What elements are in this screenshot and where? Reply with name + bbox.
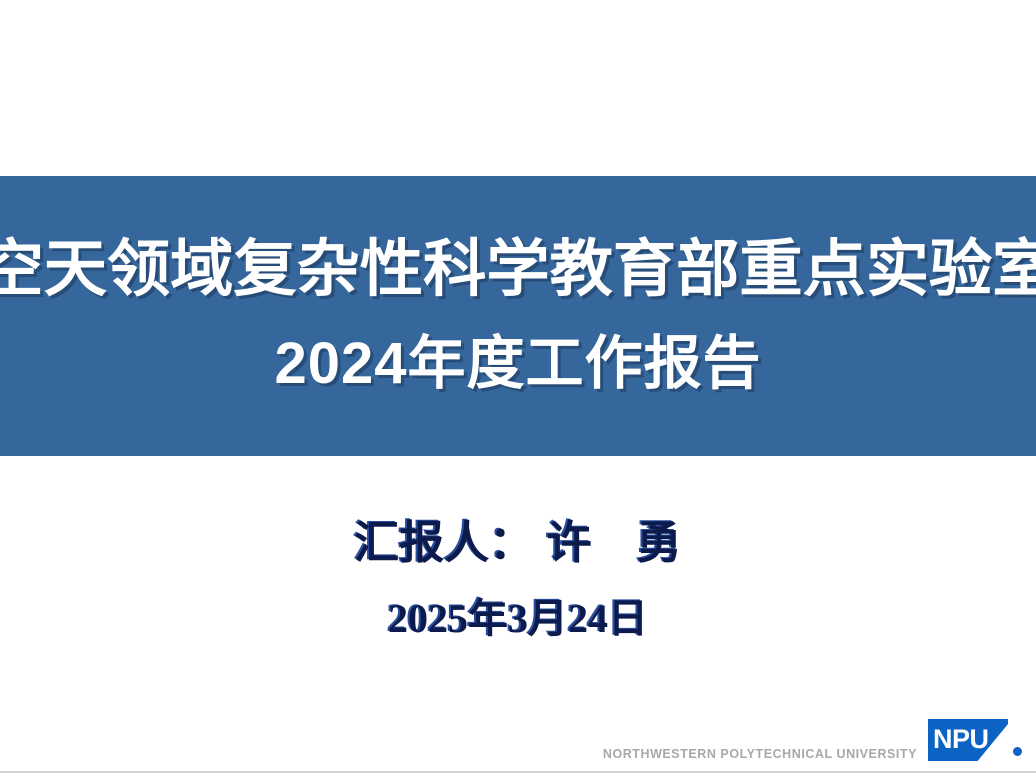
presentation-date: 2025年3月24日 [0, 599, 1036, 639]
presenter-block: 汇报人： 许 勇 2025年3月24日 [0, 520, 1036, 639]
presenter-name: 汇报人： 许 勇 [0, 520, 1036, 565]
npu-logo: NPU [928, 719, 1008, 761]
footer-divider [0, 771, 1036, 773]
presentation-slide: 空天领域复杂性科学教育部重点实验室 2024年度工作报告 汇报人： 许 勇 20… [0, 0, 1036, 779]
npu-logo-text: NPU [933, 726, 989, 753]
university-name-text: NORTHWESTERN POLYTECHNICAL UNIVERSITY [603, 747, 917, 761]
npu-logo-dot-icon [1013, 747, 1022, 756]
title-banner: 空天领域复杂性科学教育部重点实验室 2024年度工作报告 [0, 176, 1036, 456]
slide-title-line-2: 2024年度工作报告 [274, 335, 761, 393]
slide-footer: NORTHWESTERN POLYTECHNICAL UNIVERSITY [0, 709, 1036, 779]
slide-title-line-1: 空天领域复杂性科学教育部重点实验室 [0, 239, 1036, 301]
